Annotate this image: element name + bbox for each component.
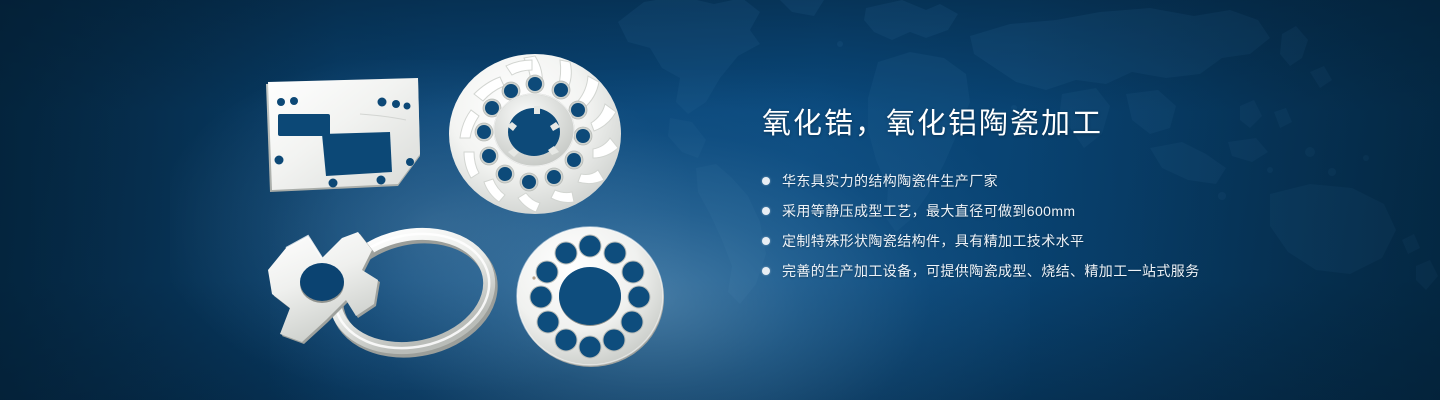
list-item: 采用等静压成型工艺，最大直径可做到600mm [762, 200, 1382, 222]
bullet-dot-icon [762, 207, 770, 215]
feature-list: 华东具实力的结构陶瓷件生产厂家 采用等静压成型工艺，最大直径可做到600mm 定… [762, 170, 1382, 282]
bullet-dot-icon [762, 177, 770, 185]
ceramic-impeller-part [444, 46, 626, 218]
list-item: 完善的生产加工设备，可提供陶瓷成型、烧结、精加工一站式服务 [762, 260, 1382, 282]
promo-banner: 氧化锆，氧化铝陶瓷加工 华东具实力的结构陶瓷件生产厂家 采用等静压成型工艺，最大… [0, 0, 1440, 400]
feature-text: 华东具实力的结构陶瓷件生产厂家 [782, 170, 998, 192]
ceramic-cross-plate-part [252, 226, 502, 358]
feature-text: 采用等静压成型工艺，最大直径可做到600mm [782, 200, 1075, 222]
banner-headline: 氧化锆，氧化铝陶瓷加工 [762, 104, 1382, 144]
ceramic-plate-part [248, 78, 444, 200]
list-item: 定制特殊形状陶瓷结构件，具有精加工技术水平 [762, 230, 1382, 252]
feature-text: 完善的生产加工设备，可提供陶瓷成型、烧结、精加工一站式服务 [782, 260, 1200, 282]
bullet-dot-icon [762, 237, 770, 245]
ceramic-perforated-disc-part [512, 222, 668, 370]
list-item: 华东具实力的结构陶瓷件生产厂家 [762, 170, 1382, 192]
product-photo-group [0, 0, 720, 400]
feature-text: 定制特殊形状陶瓷结构件，具有精加工技术水平 [782, 230, 1084, 252]
bullet-dot-icon [762, 267, 770, 275]
banner-text-block: 氧化锆，氧化铝陶瓷加工 华东具实力的结构陶瓷件生产厂家 采用等静压成型工艺，最大… [762, 104, 1382, 290]
